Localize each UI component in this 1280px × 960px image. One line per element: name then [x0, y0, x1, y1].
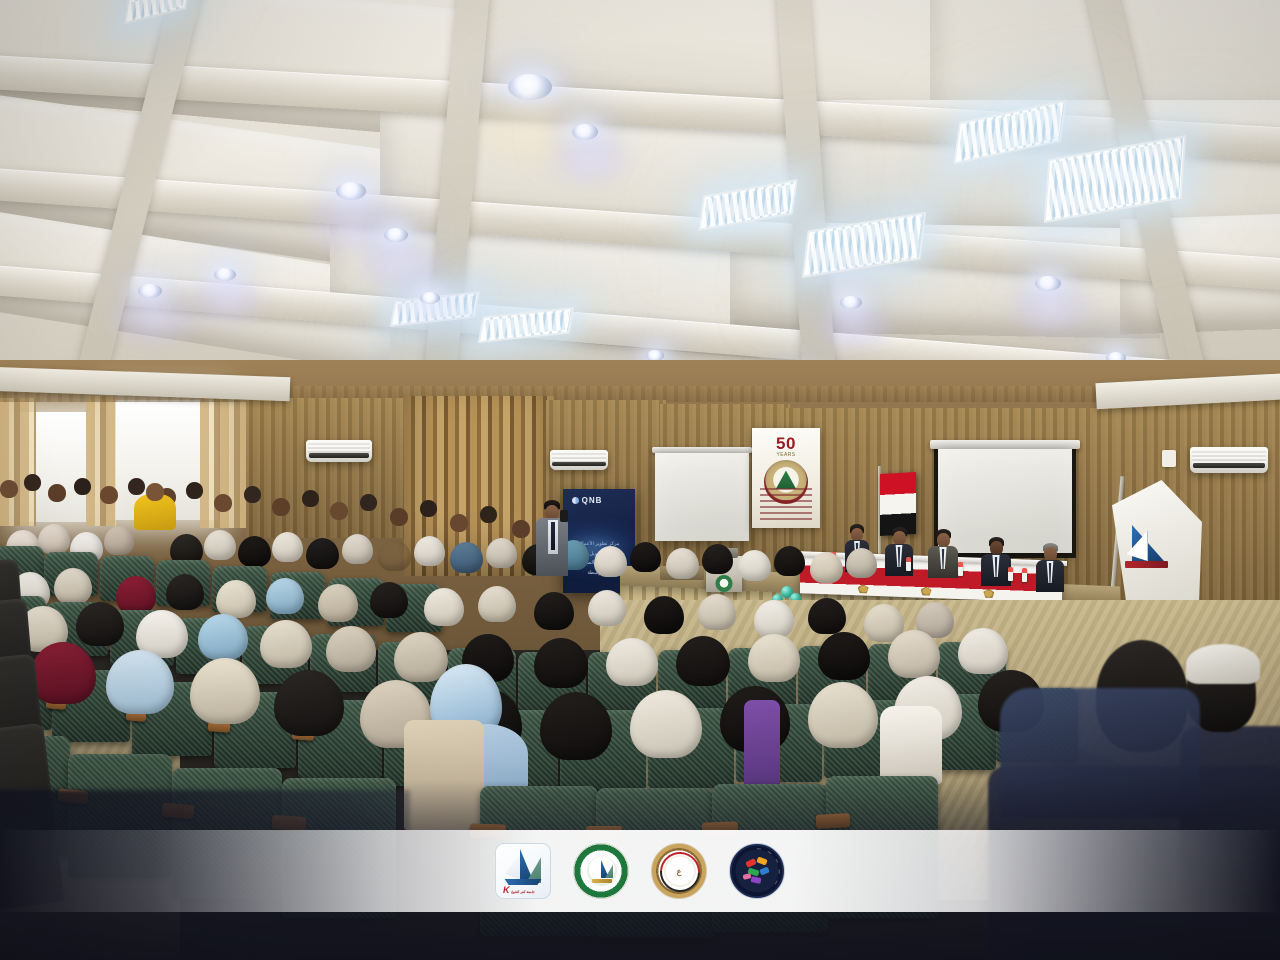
kafrelsheikh-university-logo: K جامعة كفر الشيخ — [495, 843, 551, 899]
qnb-brand-lockup: QNB — [572, 496, 603, 505]
water-bottle — [1022, 568, 1027, 582]
water-bottle — [1008, 567, 1013, 581]
audience-member-beige — [404, 720, 484, 830]
foreground-person-cap — [1186, 644, 1260, 684]
logo-caption-ar: جامعة كفر الشيخ — [500, 890, 546, 895]
seal-inner-disc — [587, 856, 617, 886]
foreground-seat — [1000, 688, 1200, 818]
navy-geometric-seal-logo — [729, 843, 785, 899]
air-conditioner — [1190, 447, 1268, 473]
ceiling-downlight — [420, 292, 440, 304]
arabic-calligraphy-icon: ع — [652, 867, 706, 876]
air-conditioner — [306, 440, 372, 462]
seal-book-base-icon — [592, 879, 612, 883]
anniversary-subtitle: YEARS — [752, 452, 820, 458]
qnb-mark-icon — [572, 497, 579, 504]
panel-member — [1035, 543, 1065, 589]
ministry-gold-seal-logo: ع — [651, 843, 707, 899]
auditorium-photo: 50 YEARS QNB مركز تطوير الأعمال دعم على … — [0, 0, 1280, 960]
air-conditioner — [550, 450, 608, 470]
qnb-brand-text: QNB — [582, 496, 603, 505]
audience-member-white — [880, 706, 942, 784]
faculty-seal-green-logo — [573, 843, 629, 899]
window-blinds — [0, 398, 36, 526]
right-screen-bar — [930, 440, 1080, 449]
anniversary-headline: 50 — [752, 434, 820, 454]
window-blinds — [86, 396, 116, 526]
organisation-logo-strip: K جامعة كفر الشيخ ع — [0, 830, 1280, 912]
ceiling — [0, 0, 1280, 420]
